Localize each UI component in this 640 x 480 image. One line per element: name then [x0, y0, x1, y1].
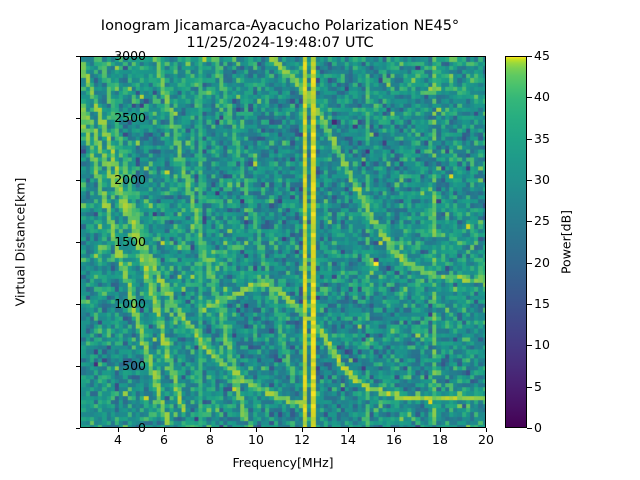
- x-tick-label: 14: [328, 433, 368, 446]
- x-tick-mark: [164, 428, 165, 432]
- y-tick-mark: [76, 242, 80, 243]
- colorbar-tick-label: 10: [534, 339, 574, 351]
- x-tick-label: 12: [282, 433, 322, 446]
- title-line-2: 11/25/2024-19:48:07 UTC: [0, 35, 560, 52]
- colorbar-tick-label: 45: [534, 50, 574, 62]
- x-tick-label: 8: [190, 433, 230, 446]
- title-line-1: Ionogram Jicamarca-Ayacucho Polarization…: [0, 18, 560, 35]
- y-axis-label: Virtual Distance[km]: [13, 132, 28, 352]
- colorbar-tick-mark: [527, 345, 532, 346]
- y-tick-mark: [76, 366, 80, 367]
- x-tick-mark: [486, 428, 487, 432]
- colorbar-label: Power[dB]: [559, 162, 574, 322]
- x-tick-mark: [256, 428, 257, 432]
- colorbar-tick-mark: [527, 97, 532, 98]
- colorbar-tick-label: 40: [534, 91, 574, 103]
- y-tick-label: 2500: [86, 112, 146, 124]
- y-tick-label: 3000: [86, 50, 146, 62]
- colorbar-tick-mark: [527, 263, 532, 264]
- x-tick-mark: [302, 428, 303, 432]
- x-axis-label: Frequency[MHz]: [80, 455, 486, 470]
- colorbar: [505, 56, 527, 428]
- colorbar-tick-label: 5: [534, 381, 574, 393]
- x-tick-label: 10: [236, 433, 276, 446]
- x-tick-label: 6: [144, 433, 184, 446]
- y-tick-label: 1500: [86, 236, 146, 248]
- y-tick-mark: [76, 180, 80, 181]
- x-tick-label: 16: [374, 433, 414, 446]
- x-tick-mark: [394, 428, 395, 432]
- colorbar-tick-mark: [527, 304, 532, 305]
- x-tick-label: 4: [98, 433, 138, 446]
- y-tick-mark: [76, 56, 80, 57]
- x-tick-mark: [440, 428, 441, 432]
- colorbar-tick-mark: [527, 139, 532, 140]
- x-tick-mark: [118, 428, 119, 432]
- x-tick-label: 20: [466, 433, 506, 446]
- colorbar-tick-mark: [527, 56, 532, 57]
- y-tick-label: 2000: [86, 174, 146, 186]
- colorbar-tick-mark: [527, 221, 532, 222]
- x-tick-mark: [210, 428, 211, 432]
- colorbar-tick-mark: [527, 180, 532, 181]
- colorbar-tick-label: 0: [534, 422, 574, 434]
- colorbar-tick-mark: [527, 387, 532, 388]
- y-tick-label: 500: [86, 360, 146, 372]
- colorbar-tick-label: 35: [534, 133, 574, 145]
- colorbar-tick-mark: [527, 428, 532, 429]
- page-title: Ionogram Jicamarca-Ayacucho Polarization…: [0, 18, 560, 52]
- ionogram-figure: Ionogram Jicamarca-Ayacucho Polarization…: [0, 0, 640, 480]
- y-tick-mark: [76, 304, 80, 305]
- y-tick-mark: [76, 118, 80, 119]
- x-tick-mark: [348, 428, 349, 432]
- x-tick-label: 18: [420, 433, 460, 446]
- y-tick-mark: [76, 428, 80, 429]
- y-tick-label: 1000: [86, 298, 146, 310]
